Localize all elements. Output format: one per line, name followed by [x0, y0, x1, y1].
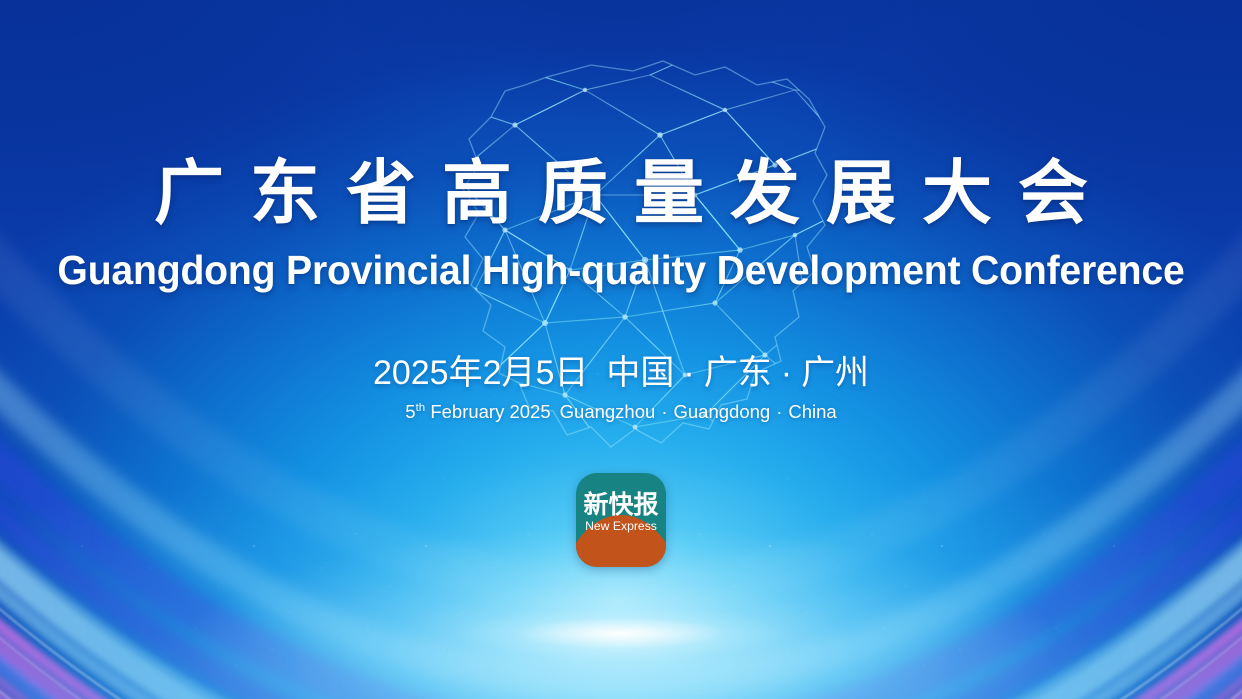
- separator-dot-icon: ·: [772, 354, 801, 392]
- city-cn: 广州: [801, 354, 869, 392]
- country-en: China: [788, 401, 836, 422]
- city-en: Guangzhou: [560, 401, 656, 422]
- separator-dot-icon: ·: [674, 354, 703, 392]
- page-title-english: Guangdong Provincial High-quality Develo…: [28, 246, 1214, 294]
- separator-dot-icon: ·: [770, 401, 788, 422]
- logo-name-english: New Express: [576, 519, 666, 533]
- new-express-logo[interactable]: 新快报 New Express: [576, 473, 666, 567]
- page-title-chinese: 广东省高质量发展大会: [0, 154, 1242, 232]
- conference-poster: 广东省高质量发展大会 Guangdong Provincial High-qua…: [0, 0, 1242, 699]
- province-cn: 广东: [704, 354, 772, 392]
- day-number: 5: [405, 401, 415, 422]
- event-date-location-english: 5th February 2025Guangzhou·Guangdong·Chi…: [0, 396, 1242, 424]
- poster-content: 广东省高质量发展大会 Guangdong Provincial High-qua…: [0, 0, 1242, 699]
- date-cn-value: 2025年2月5日: [373, 354, 588, 392]
- logo-name-chinese: 新快报: [576, 492, 666, 519]
- province-en: Guangdong: [673, 401, 770, 422]
- month-year: February 2025: [430, 401, 550, 422]
- day-ordinal-suffix: th: [416, 402, 426, 414]
- separator-dot-icon: ·: [655, 401, 673, 422]
- event-date-location-chinese: 2025年2月5日中国·广东·广州: [0, 352, 1242, 394]
- country-cn: 中国: [606, 354, 674, 392]
